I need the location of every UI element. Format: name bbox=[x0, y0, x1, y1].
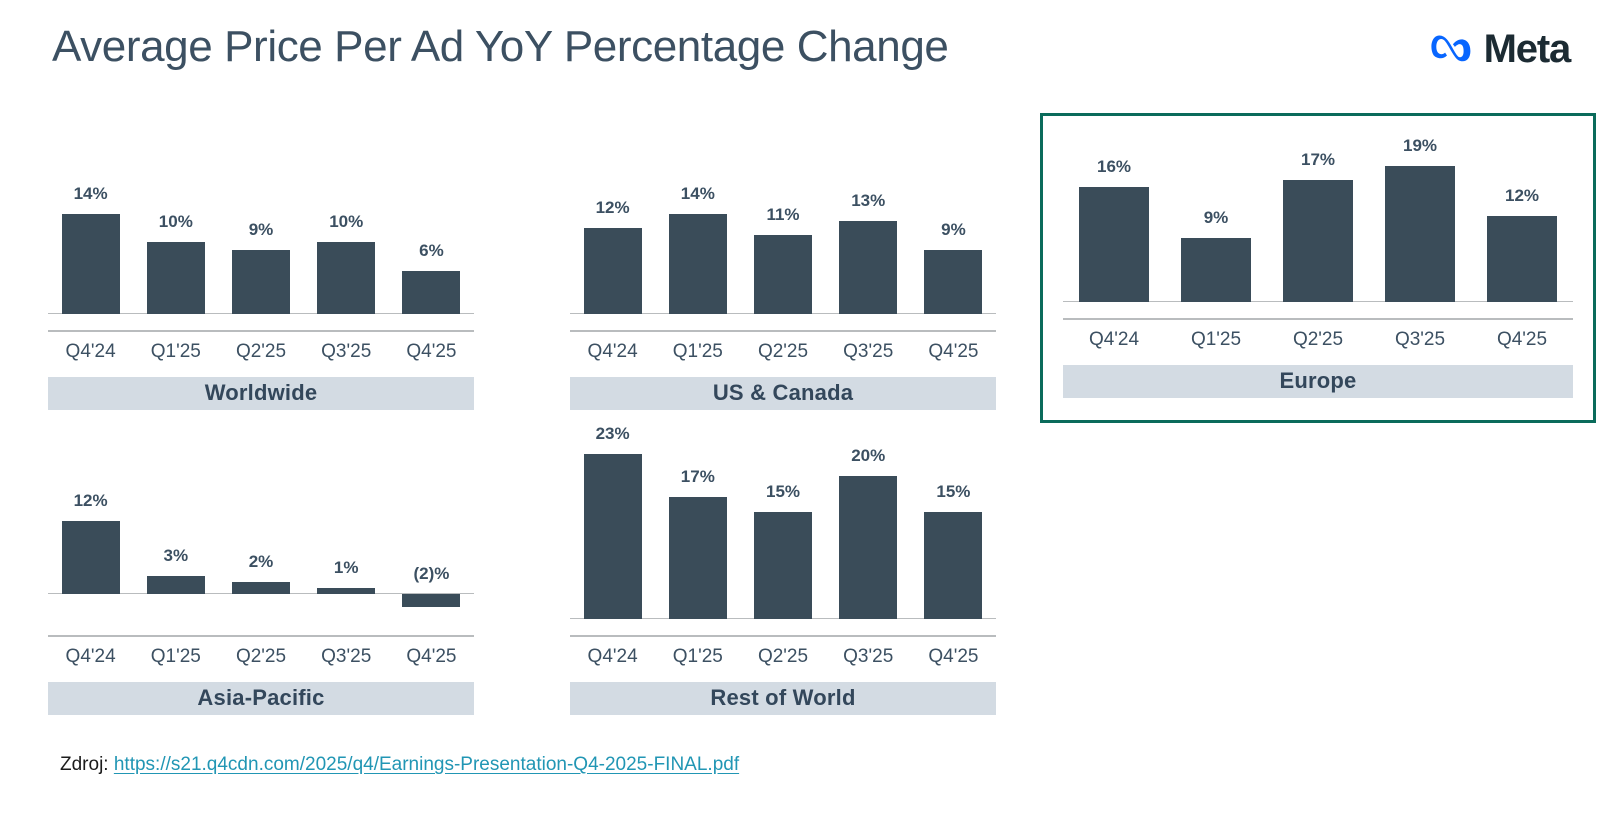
x-tick-label: Q4'24 bbox=[1063, 329, 1165, 351]
x-tick-label: Q4'24 bbox=[570, 646, 655, 668]
slide-canvas: Average Price Per Ad YoY Percentage Chan… bbox=[0, 0, 1624, 828]
x-tick-label: Q4'24 bbox=[570, 341, 655, 363]
bar-slot: 9% bbox=[218, 142, 303, 314]
x-axis-ticks: Q4'24Q1'25Q2'25Q3'25Q4'25 bbox=[570, 341, 996, 363]
axis-separator bbox=[48, 635, 474, 637]
x-tick-label: Q4'25 bbox=[911, 646, 996, 668]
bar-value-label: 19% bbox=[1369, 136, 1471, 156]
chart-panel-asia-pacific: 12%3%2%1%(2)%Q4'24Q1'25Q2'25Q3'25Q4'25As… bbox=[28, 433, 494, 715]
x-tick-label: Q1'25 bbox=[655, 341, 740, 363]
bar bbox=[402, 271, 460, 314]
bar-slot: 9% bbox=[1165, 130, 1267, 302]
region-name: US & Canada bbox=[713, 380, 853, 406]
bar-slot: 10% bbox=[133, 142, 218, 314]
bar-slot: 23% bbox=[570, 447, 655, 619]
x-tick-label: Q4'24 bbox=[48, 646, 133, 668]
bar-slot: 15% bbox=[740, 447, 825, 619]
bar-slot: 14% bbox=[48, 142, 133, 314]
bar-value-label: 10% bbox=[304, 212, 389, 232]
bar-series: 16%9%17%19%12% bbox=[1063, 130, 1573, 302]
bar-value-label: 3% bbox=[133, 546, 218, 566]
bar-value-label: 23% bbox=[570, 424, 655, 444]
bar-value-label: 17% bbox=[655, 467, 740, 487]
bar-slot: 10% bbox=[304, 142, 389, 314]
meta-logo: Meta bbox=[1429, 29, 1570, 69]
bar bbox=[924, 512, 982, 620]
bar bbox=[1385, 166, 1454, 302]
bar-slot: 17% bbox=[655, 447, 740, 619]
bar-value-label: 9% bbox=[1165, 208, 1267, 228]
bar-value-label: 12% bbox=[48, 491, 133, 511]
chart-panel-rest-of-world: 23%17%15%20%15%Q4'24Q1'25Q2'25Q3'25Q4'25… bbox=[550, 433, 1016, 715]
meta-infinity-icon bbox=[1429, 34, 1475, 64]
bar bbox=[1181, 238, 1250, 303]
bar-value-label: 13% bbox=[826, 191, 911, 211]
region-name: Asia-Pacific bbox=[197, 685, 324, 711]
bar-value-label: 11% bbox=[740, 205, 825, 225]
x-axis-ticks: Q4'24Q1'25Q2'25Q3'25Q4'25 bbox=[48, 341, 474, 363]
bar-value-label: 6% bbox=[389, 241, 474, 261]
axis-separator bbox=[1063, 318, 1573, 320]
x-tick-label: Q4'24 bbox=[48, 341, 133, 363]
bar bbox=[317, 588, 375, 594]
bar-value-label: 14% bbox=[48, 184, 133, 204]
bar-slot: 3% bbox=[133, 447, 218, 619]
chart-panel-europe: 16%9%17%19%12%Q4'24Q1'25Q2'25Q3'25Q4'25E… bbox=[1040, 113, 1596, 423]
bar bbox=[584, 454, 642, 619]
bar-slot: 12% bbox=[48, 447, 133, 619]
bar-slot: 19% bbox=[1369, 130, 1471, 302]
region-band: US & Canada bbox=[570, 377, 996, 410]
bar bbox=[839, 476, 897, 619]
bar-slot: 1% bbox=[304, 447, 389, 619]
bar-value-label: 9% bbox=[218, 220, 303, 240]
bar bbox=[839, 221, 897, 314]
x-tick-label: Q1'25 bbox=[1165, 329, 1267, 351]
meta-wordmark: Meta bbox=[1484, 29, 1570, 69]
bar-slot: 14% bbox=[655, 142, 740, 314]
x-tick-label: Q1'25 bbox=[655, 646, 740, 668]
x-axis-ticks: Q4'24Q1'25Q2'25Q3'25Q4'25 bbox=[48, 646, 474, 668]
bar-slot: 15% bbox=[911, 447, 996, 619]
page-title: Average Price Per Ad YoY Percentage Chan… bbox=[52, 22, 948, 72]
bar-series: 14%10%9%10%6% bbox=[48, 142, 474, 314]
x-tick-label: Q4'25 bbox=[911, 341, 996, 363]
bar-value-label: 14% bbox=[655, 184, 740, 204]
bar bbox=[1283, 180, 1352, 302]
x-tick-label: Q3'25 bbox=[1369, 329, 1471, 351]
x-tick-label: Q3'25 bbox=[826, 341, 911, 363]
plot-area: 16%9%17%19%12% bbox=[1063, 130, 1573, 302]
bar-value-label: 15% bbox=[740, 482, 825, 502]
chart-panel-us-canada: 12%14%11%13%9%Q4'24Q1'25Q2'25Q3'25Q4'25U… bbox=[550, 128, 1016, 410]
x-tick-label: Q3'25 bbox=[304, 646, 389, 668]
x-tick-label: Q2'25 bbox=[218, 341, 303, 363]
region-band: Europe bbox=[1063, 365, 1573, 398]
bar bbox=[754, 512, 812, 620]
x-tick-label: Q4'25 bbox=[1471, 329, 1573, 351]
region-name: Worldwide bbox=[205, 380, 318, 406]
x-tick-label: Q2'25 bbox=[740, 341, 825, 363]
x-tick-label: Q4'25 bbox=[389, 646, 474, 668]
bar-value-label: 12% bbox=[570, 198, 655, 218]
plot-area: 14%10%9%10%6% bbox=[48, 142, 474, 314]
bar-series: 23%17%15%20%15% bbox=[570, 447, 996, 619]
bar bbox=[669, 214, 727, 314]
source-label: Zdroj: bbox=[60, 754, 109, 775]
region-name: Rest of World bbox=[710, 685, 855, 711]
bar-slot: 6% bbox=[389, 142, 474, 314]
bar-slot: 17% bbox=[1267, 130, 1369, 302]
bar-slot: 9% bbox=[911, 142, 996, 314]
x-tick-label: Q1'25 bbox=[133, 341, 218, 363]
plot-area: 12%3%2%1%(2)% bbox=[48, 447, 474, 619]
axis-separator bbox=[570, 635, 996, 637]
region-name: Europe bbox=[1280, 368, 1357, 394]
bar-slot: 12% bbox=[570, 142, 655, 314]
source-link[interactable]: https://s21.q4cdn.com/2025/q4/Earnings-P… bbox=[114, 754, 739, 775]
bar bbox=[754, 235, 812, 314]
bar-value-label: (2)% bbox=[389, 564, 474, 584]
bar bbox=[232, 250, 290, 315]
bar bbox=[147, 242, 205, 314]
bar-value-label: 12% bbox=[1471, 186, 1573, 206]
bar-value-label: 9% bbox=[911, 220, 996, 240]
bar-slot: (2)% bbox=[389, 447, 474, 619]
bar bbox=[62, 521, 120, 595]
axis-separator bbox=[48, 330, 474, 332]
region-band: Worldwide bbox=[48, 377, 474, 410]
bar-slot: 12% bbox=[1471, 130, 1573, 302]
x-tick-label: Q1'25 bbox=[133, 646, 218, 668]
bar-series: 12%3%2%1%(2)% bbox=[48, 447, 474, 619]
bar bbox=[62, 214, 120, 314]
bar-value-label: 10% bbox=[133, 212, 218, 232]
bar bbox=[317, 242, 375, 314]
bar bbox=[1079, 187, 1148, 302]
region-band: Asia-Pacific bbox=[48, 682, 474, 715]
bar bbox=[232, 582, 290, 594]
bar bbox=[669, 497, 727, 619]
bar-value-label: 2% bbox=[218, 552, 303, 572]
bar-slot: 11% bbox=[740, 142, 825, 314]
x-tick-label: Q3'25 bbox=[304, 341, 389, 363]
x-tick-label: Q2'25 bbox=[740, 646, 825, 668]
bar-value-label: 17% bbox=[1267, 150, 1369, 170]
bar-series: 12%14%11%13%9% bbox=[570, 142, 996, 314]
x-tick-label: Q3'25 bbox=[826, 646, 911, 668]
axis-separator bbox=[570, 330, 996, 332]
bar bbox=[584, 228, 642, 314]
bar-value-label: 1% bbox=[304, 558, 389, 578]
x-axis-ticks: Q4'24Q1'25Q2'25Q3'25Q4'25 bbox=[1063, 329, 1573, 351]
bar-slot: 13% bbox=[826, 142, 911, 314]
x-tick-label: Q2'25 bbox=[218, 646, 303, 668]
plot-area: 23%17%15%20%15% bbox=[570, 447, 996, 619]
bar bbox=[924, 250, 982, 315]
bar-value-label: 20% bbox=[826, 446, 911, 466]
source-footer: Zdroj: https://s21.q4cdn.com/2025/q4/Ear… bbox=[60, 754, 739, 776]
bar-slot: 20% bbox=[826, 447, 911, 619]
bar bbox=[402, 594, 460, 606]
x-axis-ticks: Q4'24Q1'25Q2'25Q3'25Q4'25 bbox=[570, 646, 996, 668]
region-band: Rest of World bbox=[570, 682, 996, 715]
bar-value-label: 16% bbox=[1063, 157, 1165, 177]
bar-value-label: 15% bbox=[911, 482, 996, 502]
bar-slot: 16% bbox=[1063, 130, 1165, 302]
bar bbox=[147, 576, 205, 594]
x-tick-label: Q4'25 bbox=[389, 341, 474, 363]
bar-slot: 2% bbox=[218, 447, 303, 619]
x-tick-label: Q2'25 bbox=[1267, 329, 1369, 351]
bar bbox=[1487, 216, 1556, 302]
plot-area: 12%14%11%13%9% bbox=[570, 142, 996, 314]
chart-panel-worldwide: 14%10%9%10%6%Q4'24Q1'25Q2'25Q3'25Q4'25Wo… bbox=[28, 128, 494, 410]
